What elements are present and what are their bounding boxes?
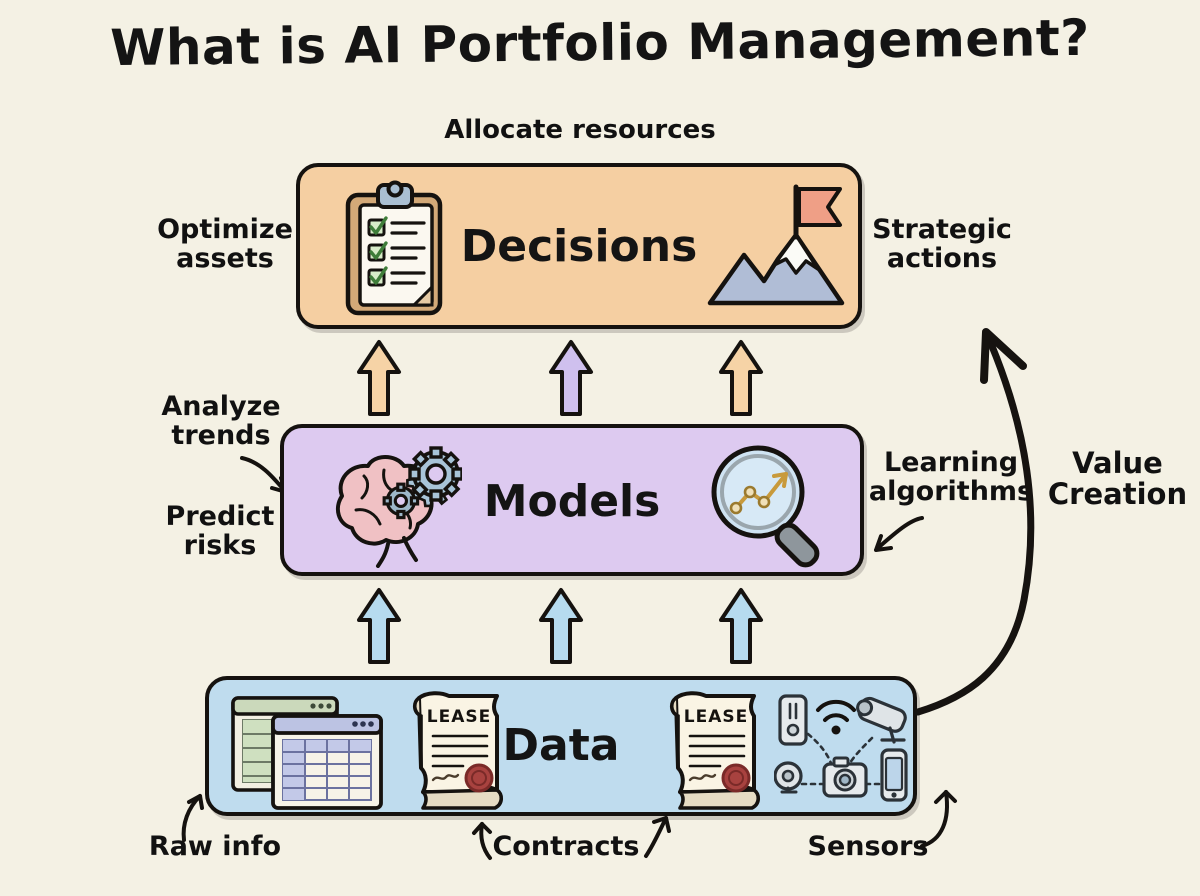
caption-raw-info: Raw info <box>140 832 290 861</box>
caption-strategic-actions: Strategic actions <box>862 215 1022 273</box>
flow-arrow-data-to-models-3 <box>718 586 764 666</box>
brain-gears-icon <box>312 442 462 568</box>
clipboard-checklist-icon <box>334 175 454 323</box>
lease-document-icon: LEASE <box>654 686 776 812</box>
caption-optimize-assets: Optimize assets <box>150 215 300 273</box>
caption-predict-risks: Predict risks <box>150 502 290 560</box>
flow-arrow-data-to-models-2 <box>538 586 584 666</box>
caption-allocate-resources: Allocate resources <box>400 116 760 144</box>
flow-arrow-models-to-decisions-2 <box>548 338 594 418</box>
caption-analyze-trends: Analyze trends <box>146 392 296 450</box>
magnifier-trend-icon <box>702 440 836 568</box>
diagram-canvas: What is AI Portfolio Management? Allocat… <box>0 0 1200 896</box>
flow-arrow-data-to-models-1 <box>356 586 402 666</box>
caption-sensors: Sensors <box>798 832 938 861</box>
mountain-flag-icon <box>700 179 850 319</box>
caption-learning-algorithms: Learning algorithms <box>866 448 1036 506</box>
sensor-network-icon <box>774 688 908 812</box>
svg-text:LEASE: LEASE <box>684 707 748 727</box>
spreadsheet-windows-icon <box>227 694 387 812</box>
page-title: What is AI Portfolio Management? <box>0 8 1200 79</box>
caption-value-creation: Value Creation <box>1040 448 1195 511</box>
layer-data[interactable]: LEASE Data LEASE <box>205 676 917 816</box>
layer-decisions[interactable]: Decisions <box>296 163 862 329</box>
lease-document-icon: LEASE <box>397 686 519 812</box>
caption-contracts: Contracts <box>476 832 656 861</box>
layer-models[interactable]: Models <box>280 424 864 576</box>
flow-arrow-models-to-decisions-1 <box>356 338 402 418</box>
flow-arrow-models-to-decisions-3 <box>718 338 764 418</box>
svg-text:LEASE: LEASE <box>427 707 491 727</box>
curved-arrow-learning-to-models <box>866 512 928 572</box>
